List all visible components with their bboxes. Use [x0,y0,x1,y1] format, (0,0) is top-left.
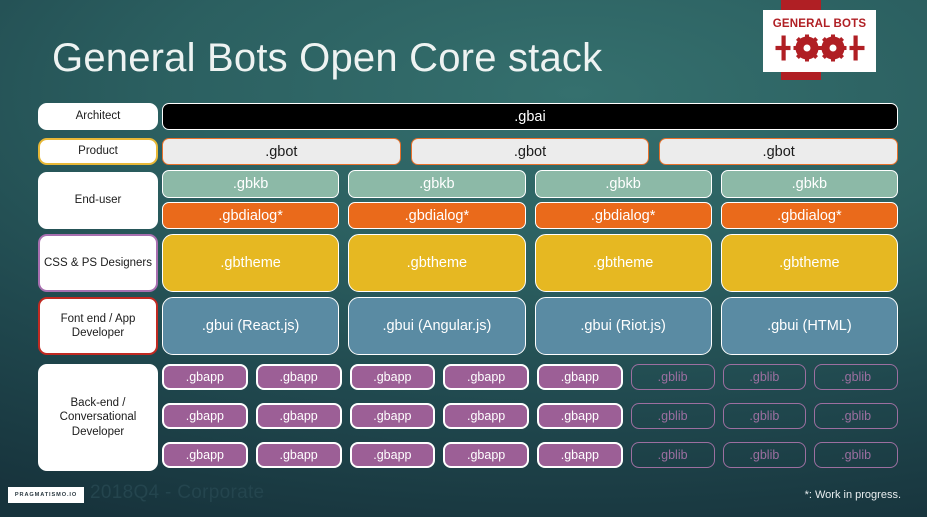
stack-cell-label: .gbkb [233,176,268,192]
stack-cell-gbai[interactable]: .gbai [162,103,898,130]
stack-cell-label: .gbot [514,144,546,160]
stack-cell-label: .gbai [514,109,545,125]
work-in-progress-note: *: Work in progress. [805,489,901,501]
grid-cell-label: .gbapp [280,370,318,384]
role-label-text: Architect [76,109,121,123]
stack-cell-gbui-riot-js[interactable]: .gbui (Riot.js) [535,297,712,355]
stack-cell-label: .gbtheme [593,255,653,271]
slide-footer: PRAGMATISMO.IO 2018Q4 - Corporate *: Wor… [0,481,927,517]
grid-cell-label: .gbapp [186,370,224,384]
grid-cell-label: .gbapp [373,409,411,423]
stack-cell-gbkb[interactable]: .gbkb [535,170,712,198]
grid-cell-label: .gbapp [373,370,411,384]
slide-canvas: GENERAL BOTS [0,0,927,517]
grid-cell-label: .gblib [841,370,871,384]
grid-cell-gbapp[interactable]: .gbapp [537,364,623,390]
stack-cell-gbtheme[interactable]: .gbtheme [162,234,339,292]
grid-row: .gbapp.gbapp.gbapp.gbapp.gbapp.gblib.gbl… [162,442,898,468]
stack-cell-gbtheme[interactable]: .gbtheme [721,234,898,292]
stack-cell-gbkb[interactable]: .gbkb [348,170,525,198]
gbtheme-row: .gbtheme.gbtheme.gbtheme.gbtheme [162,234,898,292]
stack-cell-gbtheme[interactable]: .gbtheme [535,234,712,292]
grid-row: .gbapp.gbapp.gbapp.gbapp.gbapp.gblib.gbl… [162,364,898,390]
role-label-back-end-conversational-developer: Back-end / Conversational Developer [38,364,158,471]
role-label-architect: Architect [38,103,158,130]
grid-cell-label: .gbapp [280,409,318,423]
stack-cell-label: .gbtheme [779,255,839,271]
role-label-css-ps-designers: CSS & PS Designers [38,234,158,292]
grid-cell-gbapp[interactable]: .gbapp [256,403,342,429]
stack-cell-label: .gbtheme [220,255,280,271]
stack-cell-label: .gbdialog* [777,208,842,224]
grid-cell-gblib[interactable]: .gblib [631,364,715,390]
grid-cell-label: .gblib [749,370,779,384]
stack-cell-label: .gbdialog* [591,208,656,224]
grid-cell-gbapp[interactable]: .gbapp [443,403,529,429]
stack-cell-gbkb[interactable]: .gbkb [721,170,898,198]
stack-cell-label: .gbui (HTML) [767,318,852,334]
grid-cell-gbapp[interactable]: .gbapp [256,364,342,390]
stack-cell-gbdialog[interactable]: .gbdialog* [162,202,339,229]
stack-cell-label: .gbot [763,144,795,160]
grid-cell-gbapp[interactable]: .gbapp [162,442,248,468]
stack-cell-gbdialog[interactable]: .gbdialog* [721,202,898,229]
stack-cell-label: .gbui (React.js) [202,318,300,334]
grid-cell-label: .gbapp [280,448,318,462]
grid-cell-gblib[interactable]: .gblib [631,403,715,429]
stack-cell-label: .gbkb [419,176,454,192]
grid-cell-label: .gblib [658,409,688,423]
grid-cell-label: .gbapp [561,448,599,462]
grid-cell-label: .gblib [749,409,779,423]
gbot-row: .gbot.gbot.gbot [162,138,898,165]
grid-cell-gblib[interactable]: .gblib [631,442,715,468]
grid-cell-label: .gbapp [467,448,505,462]
grid-cell-label: .gblib [658,448,688,462]
stack-cell-label: .gbot [265,144,297,160]
grid-cell-gbapp[interactable]: .gbapp [443,364,529,390]
stack-cell-label: .gbtheme [407,255,467,271]
footer-caption: 2018Q4 - Corporate [90,482,264,504]
role-label-text: Product [78,144,118,158]
grid-cell-gblib[interactable]: .gblib [723,403,807,429]
grid-cell-gblib[interactable]: .gblib [723,364,807,390]
stack-cell-label: .gbkb [605,176,640,192]
stack-cell-gbkb[interactable]: .gbkb [162,170,339,198]
grid-cell-gbapp[interactable]: .gbapp [350,364,436,390]
stack-cell-gbot[interactable]: .gbot [659,138,898,165]
grid-cell-label: .gbapp [186,448,224,462]
grid-cell-gbapp[interactable]: .gbapp [350,403,436,429]
role-label-text: Font end / App Developer [44,312,152,341]
role-label-text: Back-end / Conversational Developer [44,396,152,439]
grid-cell-gblib[interactable]: .gblib [723,442,807,468]
stack-cell-gbtheme[interactable]: .gbtheme [348,234,525,292]
grid-row: .gbapp.gbapp.gbapp.gbapp.gbapp.gblib.gbl… [162,403,898,429]
grid-cell-gbapp[interactable]: .gbapp [537,403,623,429]
grid-cell-label: .gbapp [467,370,505,384]
stack-cell-label: .gbdialog* [218,208,283,224]
grid-cell-label: .gbapp [373,448,411,462]
gbai-row: .gbai [162,103,898,130]
stack-cell-label: .gbui (Angular.js) [382,318,491,334]
stack-cell-gbot[interactable]: .gbot [162,138,401,165]
grid-cell-label: .gbapp [467,409,505,423]
grid-cell-gblib[interactable]: .gblib [814,364,898,390]
gbdialog-row: .gbdialog*.gbdialog*.gbdialog*.gbdialog* [162,202,898,229]
grid-cell-gbapp[interactable]: .gbapp [537,442,623,468]
gbkb-row: .gbkb.gbkb.gbkb.gbkb [162,170,898,198]
role-label-end-user: End-user [38,172,158,229]
stack-cell-gbot[interactable]: .gbot [411,138,650,165]
grid-cell-label: .gblib [841,448,871,462]
grid-cell-label: .gblib [749,448,779,462]
stack-cell-gbui-angular-js[interactable]: .gbui (Angular.js) [348,297,525,355]
stack-diagram: .gbapp.gbapp.gbapp.gbapp.gbapp.gblib.gbl… [162,0,898,517]
role-label-font-end-app-developer: Font end / App Developer [38,297,158,355]
stack-cell-label: .gbui (Riot.js) [580,318,665,334]
role-label-text: End-user [75,193,122,207]
role-label-product: Product [38,138,158,165]
grid-cell-gblib[interactable]: .gblib [814,442,898,468]
grid-cell-gbapp[interactable]: .gbapp [256,442,342,468]
grid-cell-gbapp[interactable]: .gbapp [162,364,248,390]
grid-cell-label: .gblib [658,370,688,384]
grid-cell-gbapp[interactable]: .gbapp [350,442,436,468]
grid-cell-label: .gblib [841,409,871,423]
gbui-row: .gbui (React.js).gbui (Angular.js).gbui … [162,297,898,355]
stack-cell-gbui-html[interactable]: .gbui (HTML) [721,297,898,355]
pragmatismo-logo-text: PRAGMATISMO.IO [15,492,77,498]
stack-cell-gbdialog[interactable]: .gbdialog* [535,202,712,229]
stack-cell-label: .gbdialog* [405,208,470,224]
grid-cell-gbapp[interactable]: .gbapp [162,403,248,429]
grid-cell-label: .gbapp [561,370,599,384]
pragmatismo-logo: PRAGMATISMO.IO [8,487,84,503]
grid-cell-label: .gbapp [561,409,599,423]
grid-cell-gblib[interactable]: .gblib [814,403,898,429]
stack-cell-gbdialog[interactable]: .gbdialog* [348,202,525,229]
grid-cell-gbapp[interactable]: .gbapp [443,442,529,468]
role-label-text: CSS & PS Designers [44,256,152,270]
stack-cell-gbui-react-js[interactable]: .gbui (React.js) [162,297,339,355]
gbapp-gblib-grid: .gbapp.gbapp.gbapp.gbapp.gbapp.gblib.gbl… [162,364,898,468]
stack-cell-label: .gbkb [792,176,827,192]
grid-cell-label: .gbapp [186,409,224,423]
role-sidebar: ArchitectProductEnd-userCSS & PS Designe… [38,0,158,517]
